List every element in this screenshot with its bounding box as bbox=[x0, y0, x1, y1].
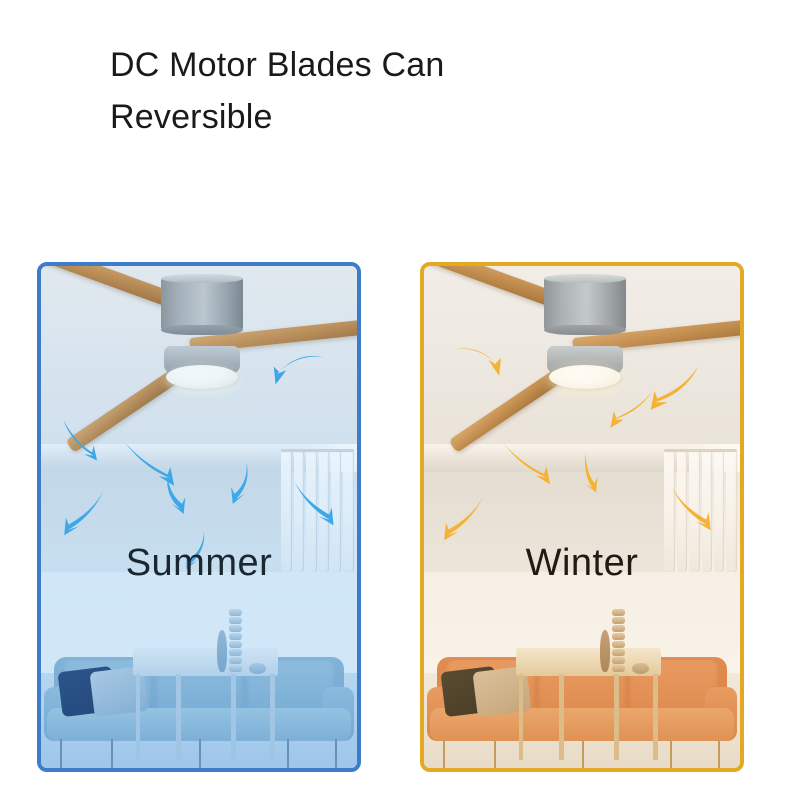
table-leg bbox=[136, 674, 141, 760]
airflow-arrow-icon bbox=[566, 437, 613, 507]
table-leg bbox=[614, 674, 619, 760]
season-label-summer: Summer bbox=[41, 542, 357, 585]
panel-winter: Winter bbox=[420, 262, 744, 772]
decor-spiral-sculpture bbox=[229, 590, 242, 672]
page-title-line-1: DC Motor Blades Can bbox=[110, 40, 710, 92]
coffee-table bbox=[516, 648, 661, 758]
decor-spiral-sculpture bbox=[612, 590, 625, 672]
room-scene-winter: Winter bbox=[424, 266, 740, 768]
table-leg bbox=[653, 674, 658, 760]
airflow-arrow-icon bbox=[449, 336, 503, 396]
panel-summer: Summer bbox=[37, 262, 361, 772]
room-scene-summer: Summer bbox=[41, 266, 357, 768]
decor-vase bbox=[600, 630, 610, 672]
fan-light-icon bbox=[166, 365, 239, 389]
fan-motor-housing bbox=[161, 277, 243, 332]
table-leg bbox=[176, 674, 181, 760]
table-leg bbox=[270, 674, 275, 760]
airflow-arrow-icon bbox=[60, 407, 111, 472]
airflow-arrow-icon bbox=[664, 472, 718, 542]
coffee-table bbox=[133, 648, 278, 758]
decor-vase bbox=[217, 630, 227, 672]
airflow-arrow-icon bbox=[57, 477, 111, 547]
airflow-arrow-icon bbox=[272, 341, 326, 401]
season-label-winter: Winter bbox=[424, 542, 740, 585]
table-leg bbox=[519, 674, 524, 760]
fan-motor-housing bbox=[544, 277, 626, 332]
airflow-arrow-icon bbox=[287, 467, 341, 537]
airflow-arrow-icon bbox=[607, 376, 658, 441]
table-leg bbox=[231, 674, 236, 760]
airflow-arrow-icon bbox=[221, 447, 272, 517]
page-title-line-2: Reversible bbox=[110, 92, 710, 144]
page-title: DC Motor Blades Can Reversible bbox=[110, 40, 710, 143]
table-leg bbox=[559, 674, 564, 760]
airflow-arrow-icon bbox=[500, 427, 554, 497]
